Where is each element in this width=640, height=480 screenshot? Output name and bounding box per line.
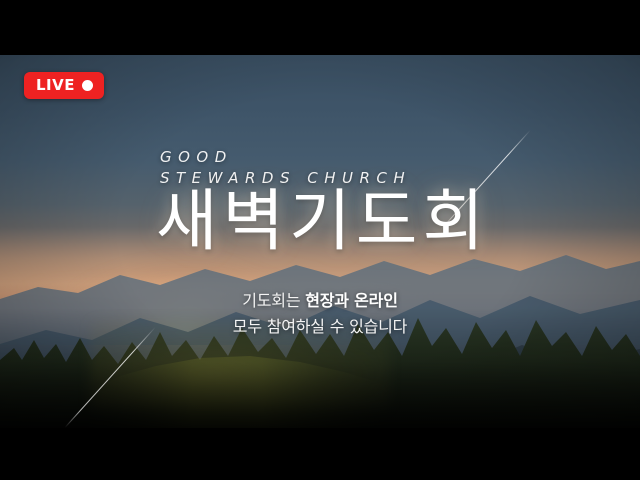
- subtitle-line-1: 기도회는 현장과 온라인: [0, 288, 640, 314]
- subtitle-line-2: 모두 참여하실 수 있습니다: [0, 314, 640, 340]
- live-dot-icon: [82, 80, 93, 91]
- text-overlay: LIVE GOOD STEWARDS CHURCH 새벽기도회 기도회는 현장과…: [0, 55, 640, 428]
- subtitle-line-1-emphasis: 현장과 온라인: [305, 291, 398, 310]
- page-title: 새벽기도회: [0, 186, 640, 256]
- subtitle-block: 기도회는 현장과 온라인 모두 참여하실 수 있습니다: [0, 288, 640, 340]
- church-name-line-1: GOOD: [160, 148, 233, 166]
- live-badge[interactable]: LIVE: [24, 72, 104, 99]
- letterbox-bar-top: [0, 0, 640, 55]
- video-player-frame: LIVE GOOD STEWARDS CHURCH 새벽기도회 기도회는 현장과…: [0, 0, 640, 480]
- live-badge-label: LIVE: [36, 78, 75, 93]
- letterbox-bar-bottom: [0, 428, 640, 480]
- subtitle-line-1-normal: 기도회는: [242, 291, 305, 310]
